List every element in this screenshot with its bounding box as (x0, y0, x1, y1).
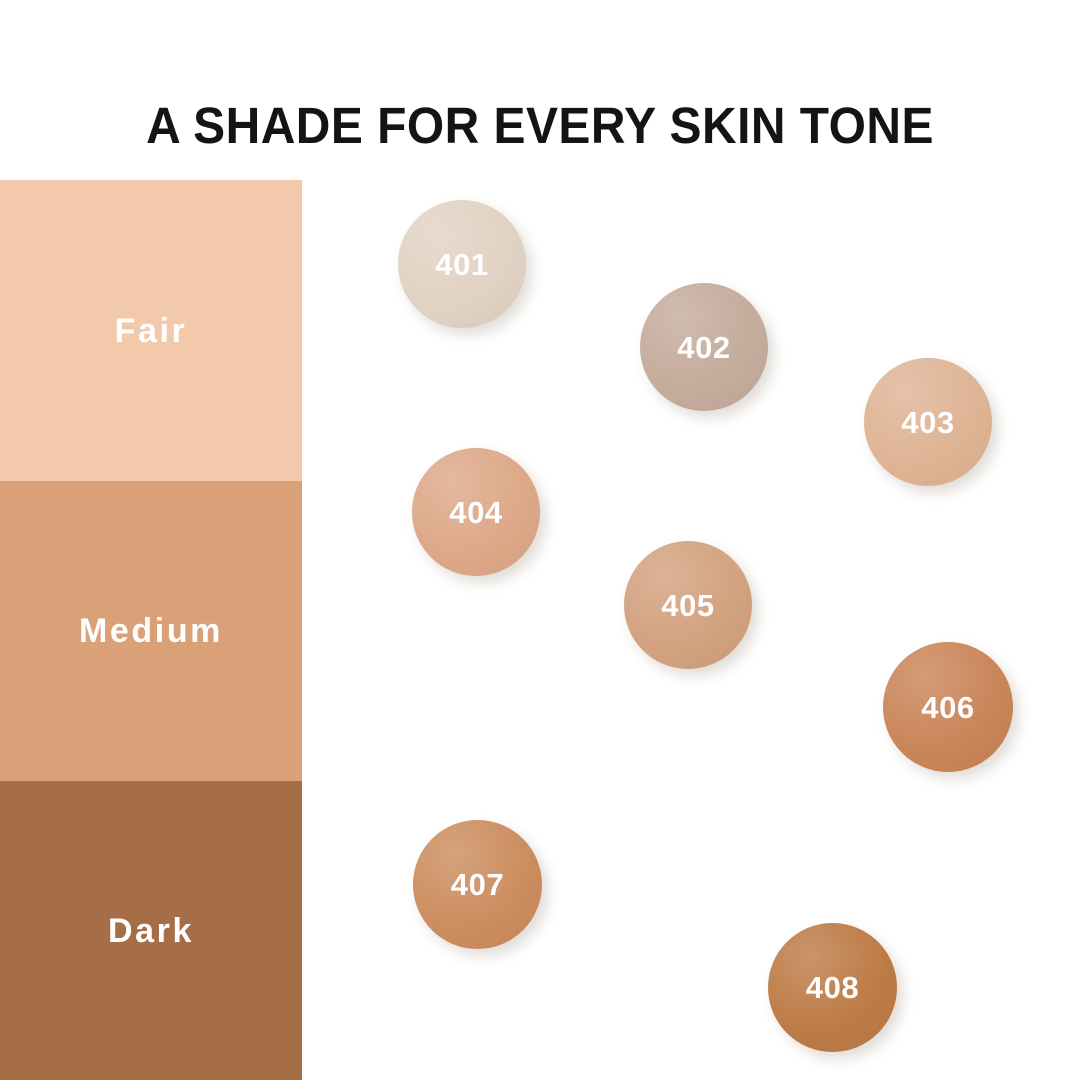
shade-swatch-label-404: 404 (449, 497, 503, 528)
tone-band-medium: Medium (0, 481, 302, 781)
shade-swatch-label-407: 407 (451, 869, 505, 900)
tone-band-fair: Fair (0, 180, 302, 481)
shade-swatch-label-402: 402 (677, 332, 731, 363)
shade-range-infographic: A SHADE FOR EVERY SKIN TONE Fair Medium … (0, 0, 1080, 1080)
shade-swatch-402[interactable]: 402 (640, 283, 768, 411)
page-title: A SHADE FOR EVERY SKIN TONE (32, 98, 1047, 154)
shade-swatch-label-405: 405 (661, 590, 715, 621)
shade-swatch-406[interactable]: 406 (883, 642, 1013, 772)
shade-swatch-label-401: 401 (435, 249, 489, 280)
shade-swatch-407[interactable]: 407 (413, 820, 542, 949)
tone-category-bar: Fair Medium Dark (0, 180, 302, 1080)
tone-band-dark: Dark (0, 781, 302, 1080)
shade-swatch-label-403: 403 (901, 407, 955, 438)
tone-band-label-medium: Medium (79, 614, 223, 648)
shade-swatch-405[interactable]: 405 (624, 541, 752, 669)
shade-swatch-403[interactable]: 403 (864, 358, 992, 486)
shade-swatch-label-406: 406 (921, 692, 975, 723)
shade-swatch-401[interactable]: 401 (398, 200, 526, 328)
shade-swatch-label-408: 408 (806, 972, 860, 1003)
tone-band-label-dark: Dark (108, 914, 194, 948)
shade-swatch-408[interactable]: 408 (768, 923, 897, 1052)
shade-swatch-404[interactable]: 404 (412, 448, 540, 576)
tone-band-label-fair: Fair (115, 314, 188, 348)
